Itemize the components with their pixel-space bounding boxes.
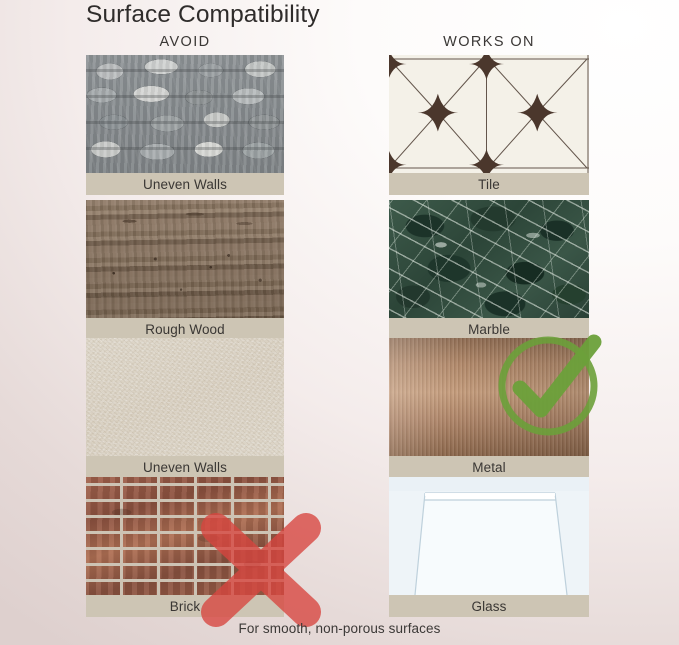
texture-bronze-metal xyxy=(389,338,589,456)
surface-label: Rough Wood xyxy=(86,318,284,340)
surface-card-brick[interactable]: Brick xyxy=(86,477,284,617)
surface-label: Tile xyxy=(389,173,589,195)
surface-card-rough-wood[interactable]: Rough Wood xyxy=(86,200,284,340)
texture-green-marble xyxy=(389,200,589,318)
texture-tile-pattern xyxy=(389,55,589,173)
texture-rough-wood xyxy=(86,200,284,318)
footnote-text: For smooth, non-porous surfaces xyxy=(0,621,679,636)
surface-card-glass[interactable]: Glass xyxy=(389,477,589,617)
surface-card-tile[interactable]: Tile xyxy=(389,55,589,195)
column-header-avoid: AVOID xyxy=(86,34,284,50)
surface-label: Uneven Walls xyxy=(86,173,284,195)
surface-label: Brick xyxy=(86,595,284,617)
texture-stone-wall xyxy=(86,55,284,173)
texture-stucco-wall xyxy=(86,338,284,456)
page-title: Surface Compatibility xyxy=(86,0,320,30)
texture-brick-wall xyxy=(86,477,284,595)
surface-card-uneven-walls-stone[interactable]: Uneven Walls xyxy=(86,55,284,195)
column-header-works-on: WORKS ON xyxy=(389,34,589,50)
surface-compatibility-infographic: Surface Compatibility AVOID WORKS ON Une… xyxy=(0,0,679,645)
texture-glass-pane xyxy=(389,477,589,595)
surface-card-marble[interactable]: Marble xyxy=(389,200,589,340)
surface-label: Glass xyxy=(389,595,589,617)
surface-label: Uneven Walls xyxy=(86,456,284,478)
surface-label: Metal xyxy=(389,456,589,478)
surface-card-uneven-walls-stucco[interactable]: Uneven Walls xyxy=(86,338,284,478)
surface-card-metal[interactable]: Metal xyxy=(389,338,589,478)
surface-label: Marble xyxy=(389,318,589,340)
